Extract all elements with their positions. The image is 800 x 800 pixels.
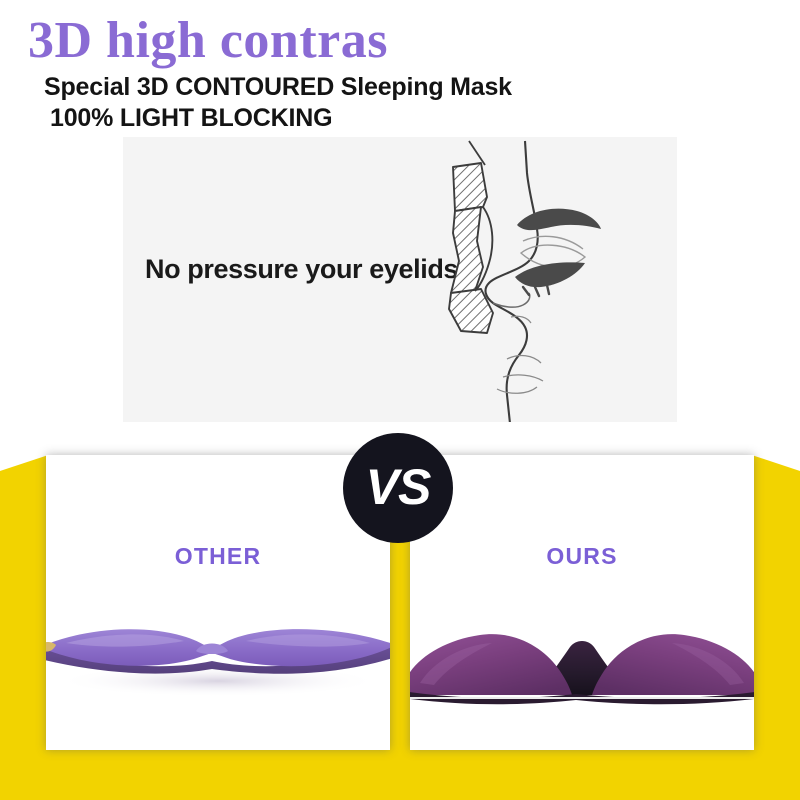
contoured-3d-sleeping-mask-graphic [410,575,754,750]
flat-sleeping-mask-graphic [46,575,390,750]
page-title: 3D high contras [28,14,388,69]
subtitle-line-1: Special 3D CONTOURED Sleeping Mask [44,72,764,103]
illustration-panel: No pressure your eyelids [123,137,677,422]
vs-badge-label: VS [366,462,431,512]
illustration-caption: No pressure your eyelids [145,254,458,285]
comparison-label-other: OTHER [46,543,390,570]
comparison-panel-ours: OURS [410,455,754,750]
mask-photo-other [46,575,390,750]
infographic-canvas: 3D high contras Special 3D CONTOURED Sle… [0,0,800,800]
mask-photo-ours [410,575,754,750]
subtitle-line-2: 100% LIGHT BLOCKING [44,103,764,134]
vs-badge: VS [343,433,453,543]
comparison-panel-other: OTHER [46,455,390,750]
subtitle-block: Special 3D CONTOURED Sleeping Mask 100% … [44,72,764,133]
face-profile-illustration [437,137,677,422]
comparison-label-ours: OURS [410,543,754,570]
